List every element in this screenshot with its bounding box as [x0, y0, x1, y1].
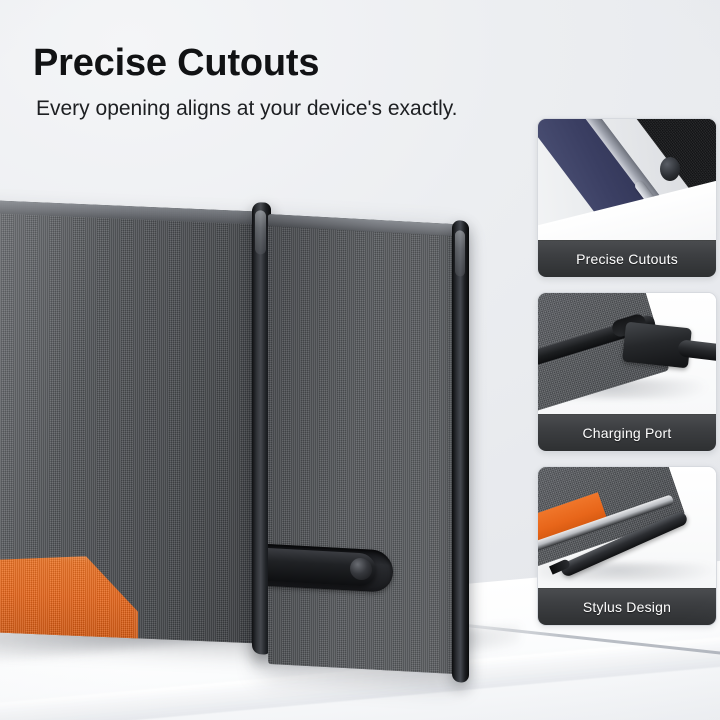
feature-card-caption-precise-cutouts: Precise Cutouts — [538, 240, 716, 277]
page-subtitle: Every opening aligns at your device's ex… — [36, 96, 533, 121]
feature-card-caption-stylus-design: Stylus Design — [538, 588, 716, 625]
feature-card-precise-cutouts[interactable]: Precise Cutouts — [537, 118, 717, 278]
feature-card-charging-port[interactable]: Charging Port — [537, 292, 717, 452]
feature-card-stylus-design[interactable]: Stylus Design — [537, 466, 717, 626]
rear-spine-cutout — [255, 210, 266, 254]
front-case-spine — [452, 220, 469, 683]
page-title: Precise Cutouts — [33, 44, 533, 84]
front-panel-sheen — [268, 214, 466, 675]
rear-case-panel — [0, 199, 270, 644]
feature-card-image-precise-cutouts — [538, 119, 716, 241]
front-case-panel — [268, 214, 466, 675]
product-feature-banner: Precise Cutouts Every opening aligns at … — [0, 0, 720, 720]
case-corner-bumper — [660, 157, 680, 181]
charging-port-art — [538, 293, 716, 415]
header: Precise Cutouts Every opening aligns at … — [33, 44, 533, 121]
navy-tablet-edge-art — [538, 119, 716, 241]
feature-card-list: Precise Cutouts Charging Port — [537, 118, 715, 640]
feature-card-caption-charging-port: Charging Port — [538, 414, 716, 451]
stylus-design-art — [538, 467, 716, 589]
hero-product-stage — [0, 150, 540, 720]
front-spine-cutout — [455, 230, 465, 277]
feature-card-image-charging-port — [538, 293, 716, 415]
feature-card-image-stylus-design — [538, 467, 716, 589]
